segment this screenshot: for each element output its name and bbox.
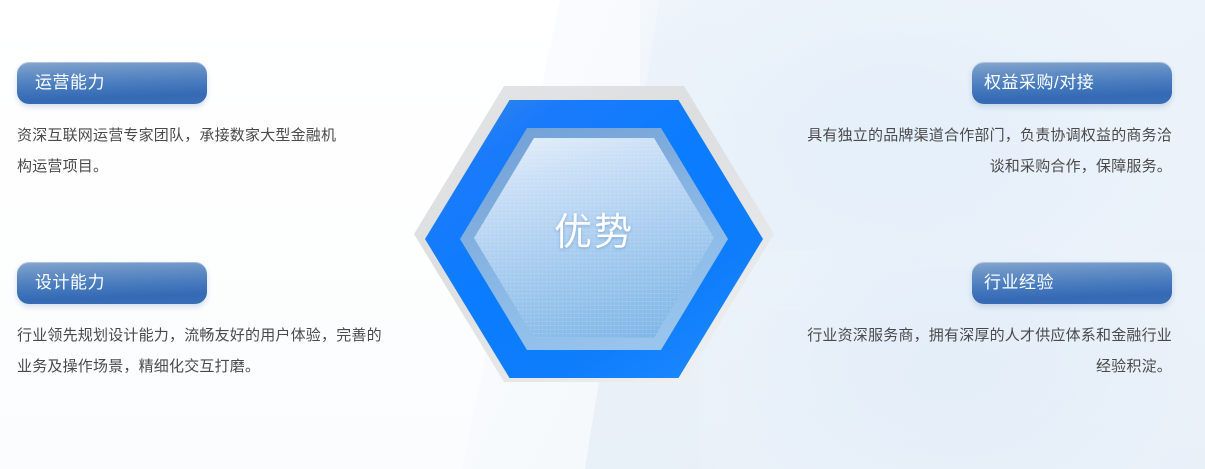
- feature-benefit-purchase-description: 具有独立的品牌渠道合作部门，负责协调权益的商务洽 谈和采购合作，保障服务。: [752, 120, 1172, 182]
- feature-operations-line-1: 资深互联网运营专家团队，承接数家大型金融机: [17, 120, 437, 151]
- feature-industry-experience-line-1: 行业资深服务商，拥有深厚的人才供应体系和金融行业: [752, 320, 1172, 351]
- feature-operations-description: 资深互联网运营专家团队，承接数家大型金融机 构运营项目。: [17, 120, 437, 182]
- hexagon-center-label: 优势: [408, 210, 780, 256]
- feature-industry-experience-line-2: 经验积淀。: [752, 351, 1172, 382]
- feature-benefit-purchase-line-1: 具有独立的品牌渠道合作部门，负责协调权益的商务洽: [752, 120, 1172, 151]
- feature-operations: 运营能力 资深互联网运营专家团队，承接数家大型金融机 构运营项目。: [17, 62, 437, 182]
- feature-industry-experience-label[interactable]: 行业经验: [972, 262, 1172, 304]
- feature-industry-experience: 行业经验 行业资深服务商，拥有深厚的人才供应体系和金融行业 经验积淀。: [752, 262, 1172, 382]
- feature-design: 设计能力 行业领先规划设计能力，流畅友好的用户体验，完善的 业务及操作场景，精细…: [17, 262, 437, 382]
- feature-benefit-purchase-line-2: 谈和采购合作，保障服务。: [752, 151, 1172, 182]
- feature-design-label[interactable]: 设计能力: [17, 262, 207, 304]
- feature-operations-label[interactable]: 运营能力: [17, 62, 207, 104]
- feature-design-description: 行业领先规划设计能力，流畅友好的用户体验，完善的 业务及操作场景，精细化交互打磨…: [17, 320, 437, 382]
- feature-operations-line-2: 构运营项目。: [17, 151, 437, 182]
- feature-design-line-2: 业务及操作场景，精细化交互打磨。: [17, 351, 437, 382]
- center-hexagon-graphic: 优势: [408, 80, 780, 388]
- feature-industry-experience-description: 行业资深服务商，拥有深厚的人才供应体系和金融行业 经验积淀。: [752, 320, 1172, 382]
- feature-design-line-1: 行业领先规划设计能力，流畅友好的用户体验，完善的: [17, 320, 437, 351]
- feature-benefit-purchase: 权益采购/对接 具有独立的品牌渠道合作部门，负责协调权益的商务洽 谈和采购合作，…: [752, 62, 1172, 182]
- advantages-infographic: 优势 运营能力 资深互联网运营专家团队，承接数家大型金融机 构运营项目。 设计能…: [0, 0, 1205, 469]
- feature-benefit-purchase-label[interactable]: 权益采购/对接: [972, 62, 1172, 104]
